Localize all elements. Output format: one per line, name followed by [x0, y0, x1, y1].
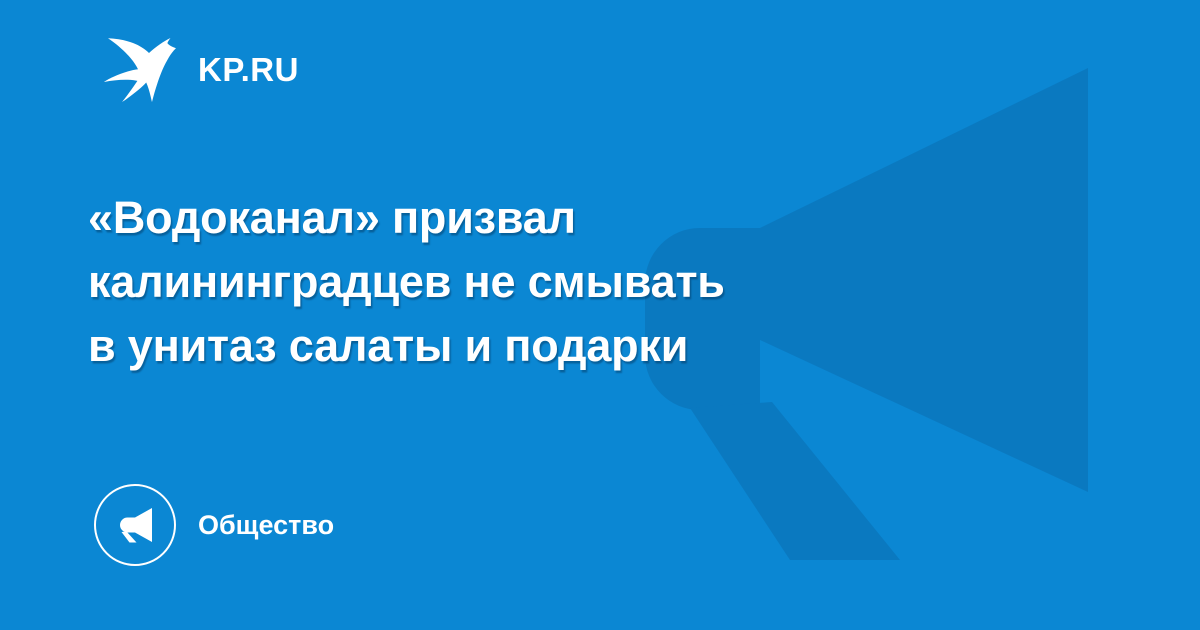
headline-line-2: калининградцев не смывать	[88, 250, 958, 314]
rubric-label: Общество	[198, 512, 334, 539]
swallow-bird-icon	[104, 36, 176, 102]
share-card: KP.RU «Водоканал» призвал калининградцев…	[0, 0, 1200, 630]
rubric-badge[interactable]: Общество	[94, 484, 334, 566]
brand-logo[interactable]: KP.RU	[104, 36, 299, 102]
headline-line-1: «Водоканал» призвал	[88, 186, 958, 250]
megaphone-icon	[94, 484, 176, 566]
headline: «Водоканал» призвал калининградцев не см…	[88, 186, 958, 378]
brand-wordmark: KP.RU	[198, 53, 299, 86]
headline-line-3: в унитаз салаты и подарки	[88, 314, 958, 378]
